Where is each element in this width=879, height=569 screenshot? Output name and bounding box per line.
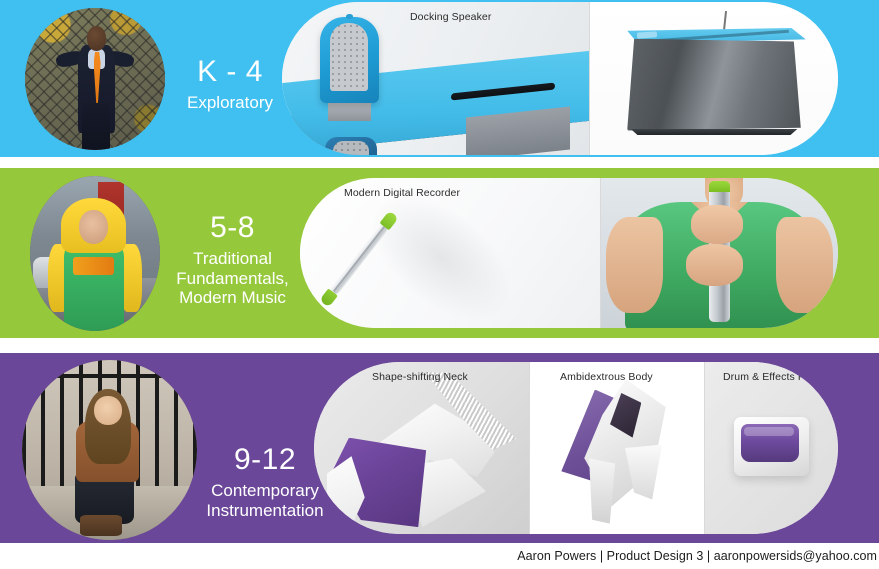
agegroup-5-8: 5-8 Traditional Fundamentals, Modern Mus… bbox=[165, 211, 300, 307]
render-lower-grille bbox=[333, 141, 370, 155]
figure-legs bbox=[82, 102, 110, 150]
credit-footer: Aaron Powers | Product Design 3 | aaronp… bbox=[517, 549, 877, 563]
product-card-5-8: Modern Digital Recorder bbox=[300, 178, 838, 328]
band-9-12: 9-12 Contemporary Instrumentation Shape-… bbox=[0, 353, 879, 543]
iron-railing-top-bar bbox=[22, 374, 197, 378]
pane-label-shape-shifting-neck: Shape-shifting Neck bbox=[372, 371, 468, 383]
hoodie-sleeve-right bbox=[121, 244, 142, 312]
agegroup-description: Traditional Fundamentals, Modern Music bbox=[165, 249, 300, 307]
product-card-9-12: Shape-shifting Neck Ambidextrous Body Dr… bbox=[314, 362, 838, 534]
figure-head bbox=[87, 26, 107, 50]
render-speaker-wire bbox=[723, 11, 727, 31]
render-speaker-face bbox=[627, 39, 801, 131]
product-pane-shape-shifting-neck: Shape-shifting Neck bbox=[314, 362, 529, 534]
pane-label-docking-speaker: Docking Speaker bbox=[410, 11, 491, 23]
band-k4: K - 4 Exploratory Docking Speaker bbox=[0, 0, 879, 157]
figure-boots bbox=[80, 515, 122, 537]
photo-k4-scene bbox=[25, 8, 165, 150]
product-pane-ambidextrous-body: Ambidextrous Body bbox=[530, 362, 704, 534]
figure-arm-left bbox=[606, 217, 663, 313]
render-recorder-mouthpiece bbox=[709, 181, 730, 192]
figure-tshirt bbox=[64, 243, 124, 331]
render-speaker-foot bbox=[627, 129, 801, 135]
render-pedal-highlight bbox=[744, 427, 795, 436]
photo-k4 bbox=[25, 8, 165, 150]
photo-9-12-scene bbox=[22, 360, 197, 540]
product-pane-recorder-in-use bbox=[601, 178, 838, 328]
product-pane-docking-speaker: Docking Speaker bbox=[282, 2, 589, 155]
tshirt-graphic bbox=[73, 257, 115, 276]
pane-label-digital-recorder: Modern Digital Recorder bbox=[344, 187, 460, 199]
design-board: K - 4 Exploratory Docking Speaker bbox=[0, 0, 879, 569]
agegroup-description: Exploratory bbox=[170, 93, 290, 112]
band-5-8: 5-8 Traditional Fundamentals, Modern Mus… bbox=[0, 168, 879, 338]
render-speaker-tab bbox=[637, 31, 657, 38]
photo-5-8 bbox=[30, 176, 160, 331]
figure-face bbox=[94, 396, 122, 425]
agegroup-k4: K - 4 Exploratory bbox=[170, 55, 290, 113]
render-speaker-grille bbox=[330, 23, 368, 92]
figure-arm-right bbox=[776, 217, 833, 313]
photo-9-12 bbox=[22, 360, 197, 540]
photo-5-8-scene bbox=[30, 176, 160, 331]
agegroup-range: 5-8 bbox=[165, 211, 300, 245]
pane-label-ambidextrous-body: Ambidextrous Body bbox=[560, 371, 653, 383]
figure-face bbox=[79, 210, 108, 244]
pane-label-drum-effects-pedals: Drum & Effects Pedals bbox=[723, 371, 831, 383]
render-dock-button bbox=[346, 14, 353, 19]
product-pane-drum-effects-pedals: Drum & Effects Pedals bbox=[705, 362, 838, 534]
agegroup-range: K - 4 bbox=[170, 55, 290, 89]
product-card-k4: Docking Speaker bbox=[282, 2, 838, 155]
figure-hand-lower bbox=[686, 244, 743, 286]
render-dock-base bbox=[328, 100, 371, 121]
product-pane-digital-recorder: Modern Digital Recorder bbox=[300, 178, 600, 328]
figure-hand-upper bbox=[691, 205, 743, 244]
product-pane-speaker-front bbox=[590, 2, 838, 155]
